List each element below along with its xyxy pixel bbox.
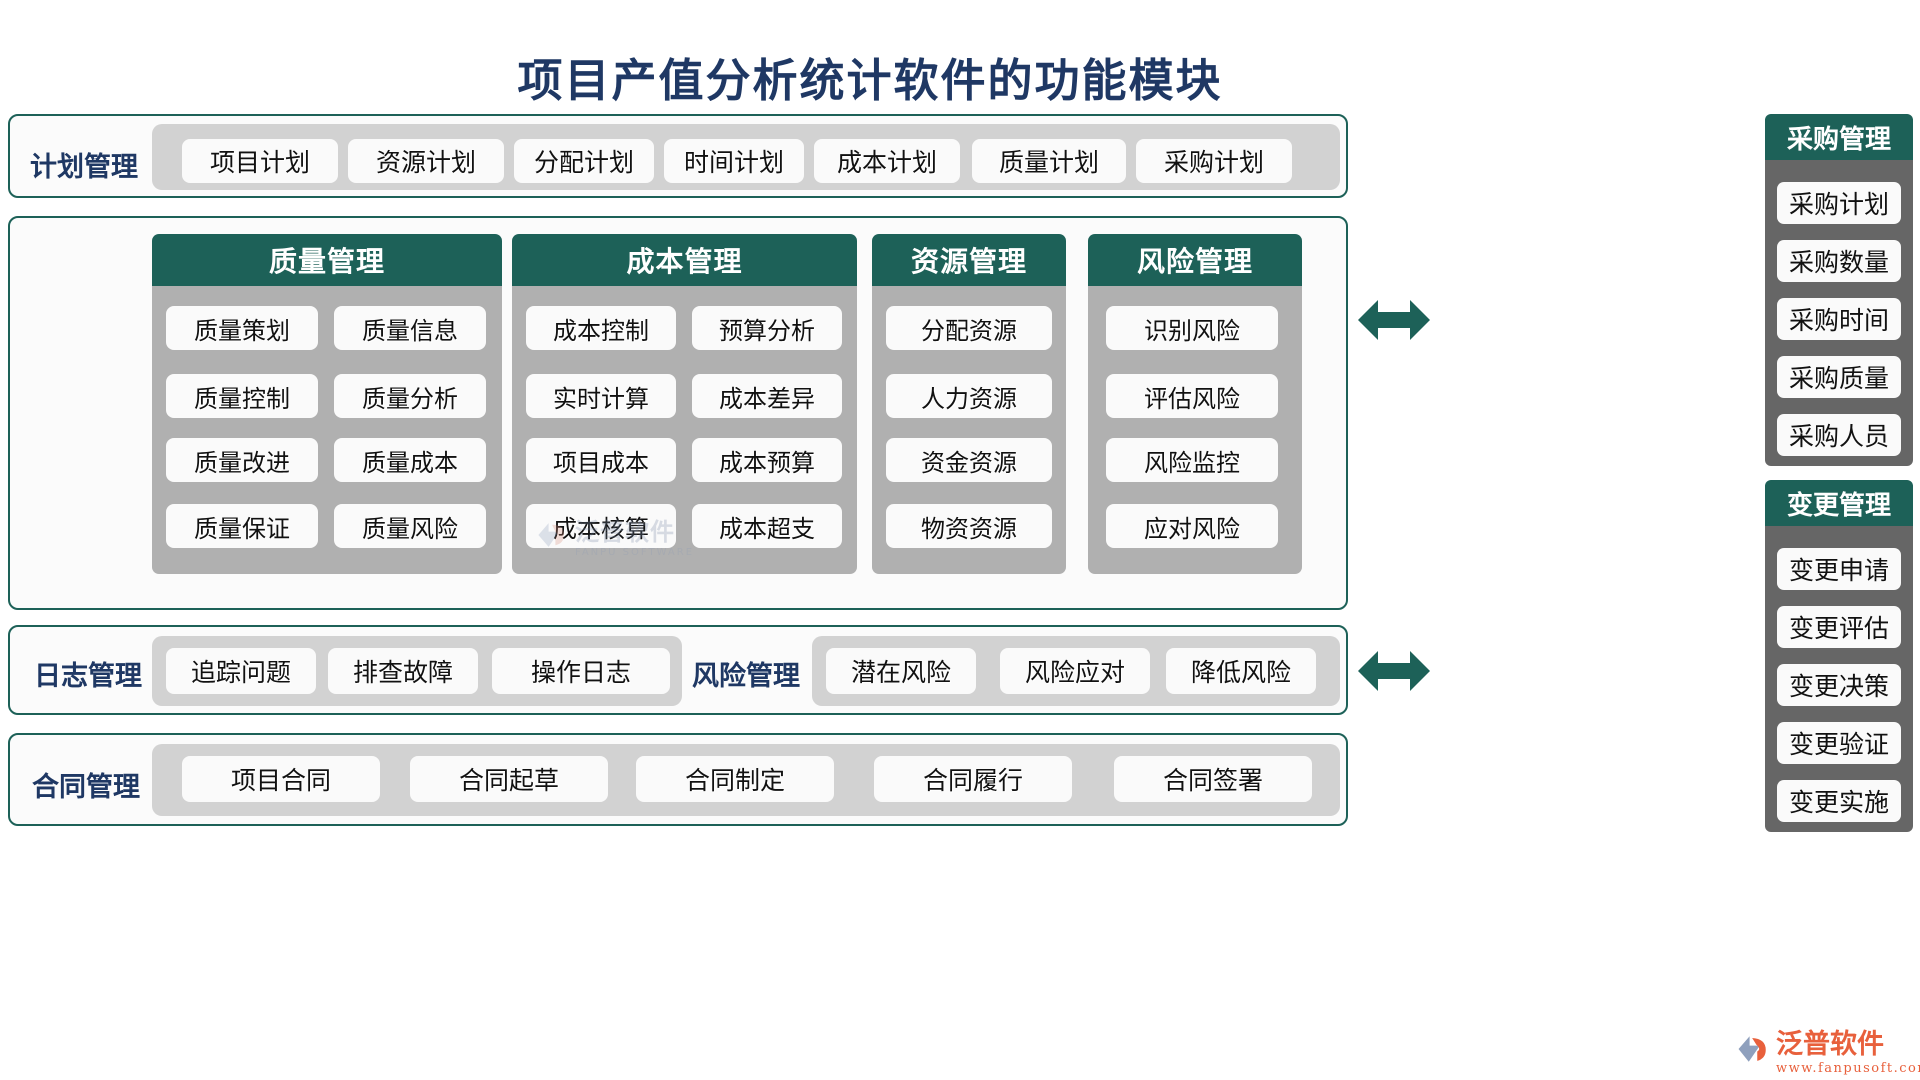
risk-row-item-1[interactable]: 风险应对	[1000, 648, 1150, 694]
resource-item-1[interactable]: 人力资源	[886, 374, 1052, 418]
cost-item-6[interactable]: 成本核算	[526, 504, 676, 548]
plan-item-3[interactable]: 时间计划	[664, 139, 804, 183]
resource-item-0[interactable]: 分配资源	[886, 306, 1052, 350]
procurement-item-3[interactable]: 采购质量	[1777, 356, 1901, 398]
resource-item-3[interactable]: 物资资源	[886, 504, 1052, 548]
risk-row-item-2[interactable]: 降低风险	[1166, 648, 1316, 694]
plan-item-1[interactable]: 资源计划	[348, 139, 504, 183]
quality-item-0[interactable]: 质量策划	[166, 306, 318, 350]
column-header-resource: 资源管理	[872, 234, 1066, 286]
risk-item-2[interactable]: 风险监控	[1106, 438, 1278, 482]
contract-item-4[interactable]: 合同签署	[1114, 756, 1312, 802]
change-item-3[interactable]: 变更验证	[1777, 722, 1901, 764]
log-item-0[interactable]: 追踪问题	[166, 648, 316, 694]
risk-item-3[interactable]: 应对风险	[1106, 504, 1278, 548]
quality-item-7[interactable]: 质量风险	[334, 504, 486, 548]
cost-item-0[interactable]: 成本控制	[526, 306, 676, 350]
resource-item-2[interactable]: 资金资源	[886, 438, 1052, 482]
contract-item-2[interactable]: 合同制定	[636, 756, 834, 802]
contract-item-0[interactable]: 项目合同	[182, 756, 380, 802]
log-management-label: 日志管理	[28, 654, 148, 693]
quality-item-6[interactable]: 质量保证	[166, 504, 318, 548]
risk-row-label: 风险管理	[686, 654, 806, 693]
plan-item-6[interactable]: 采购计划	[1136, 139, 1292, 183]
brand-logo: 泛普软件 www.fanpusoft.com	[1736, 1022, 1920, 1076]
change-item-1[interactable]: 变更评估	[1777, 606, 1901, 648]
plan-item-2[interactable]: 分配计划	[514, 139, 654, 183]
double-arrow-top-icon	[1358, 292, 1430, 352]
quality-item-2[interactable]: 质量控制	[166, 374, 318, 418]
risk-item-0[interactable]: 识别风险	[1106, 306, 1278, 350]
contract-management-label: 合同管理	[24, 765, 148, 804]
brand-url: www.fanpusoft.com	[1776, 1061, 1920, 1076]
risk-row-item-0[interactable]: 潜在风险	[826, 648, 976, 694]
quality-item-5[interactable]: 质量成本	[334, 438, 486, 482]
cost-item-7[interactable]: 成本超支	[692, 504, 842, 548]
column-header-cost: 成本管理	[512, 234, 857, 286]
plan-management-label: 计划管理	[24, 145, 144, 184]
cost-item-1[interactable]: 预算分析	[692, 306, 842, 350]
double-arrow-bottom-icon	[1358, 643, 1430, 703]
sidebar-header-change: 变更管理	[1765, 480, 1913, 526]
sidebar-header-procurement: 采购管理	[1765, 114, 1913, 160]
log-item-2[interactable]: 操作日志	[492, 648, 670, 694]
plan-item-0[interactable]: 项目计划	[182, 139, 338, 183]
procurement-item-1[interactable]: 采购数量	[1777, 240, 1901, 282]
page-title: 项目产值分析统计软件的功能模块	[0, 44, 1740, 109]
fanpu-logo-icon	[1736, 1032, 1770, 1066]
quality-item-3[interactable]: 质量分析	[334, 374, 486, 418]
procurement-item-0[interactable]: 采购计划	[1777, 182, 1901, 224]
procurement-item-4[interactable]: 采购人员	[1777, 414, 1901, 456]
contract-item-1[interactable]: 合同起草	[410, 756, 608, 802]
column-header-risk: 风险管理	[1088, 234, 1302, 286]
risk-item-1[interactable]: 评估风险	[1106, 374, 1278, 418]
brand-name: 泛普软件	[1776, 1022, 1920, 1061]
plan-item-5[interactable]: 质量计划	[972, 139, 1126, 183]
cost-item-4[interactable]: 项目成本	[526, 438, 676, 482]
contract-item-3[interactable]: 合同履行	[874, 756, 1072, 802]
change-item-2[interactable]: 变更决策	[1777, 664, 1901, 706]
quality-item-1[interactable]: 质量信息	[334, 306, 486, 350]
cost-item-3[interactable]: 成本差异	[692, 374, 842, 418]
procurement-item-2[interactable]: 采购时间	[1777, 298, 1901, 340]
cost-item-5[interactable]: 成本预算	[692, 438, 842, 482]
change-item-0[interactable]: 变更申请	[1777, 548, 1901, 590]
change-item-4[interactable]: 变更实施	[1777, 780, 1901, 822]
cost-item-2[interactable]: 实时计算	[526, 374, 676, 418]
diagram-canvas: 项目产值分析统计软件的功能模块 计划管理 项目计划 资源计划 分配计划 时间计划…	[0, 0, 1920, 1080]
quality-item-4[interactable]: 质量改进	[166, 438, 318, 482]
column-header-quality: 质量管理	[152, 234, 502, 286]
plan-item-4[interactable]: 成本计划	[814, 139, 960, 183]
log-item-1[interactable]: 排查故障	[328, 648, 478, 694]
